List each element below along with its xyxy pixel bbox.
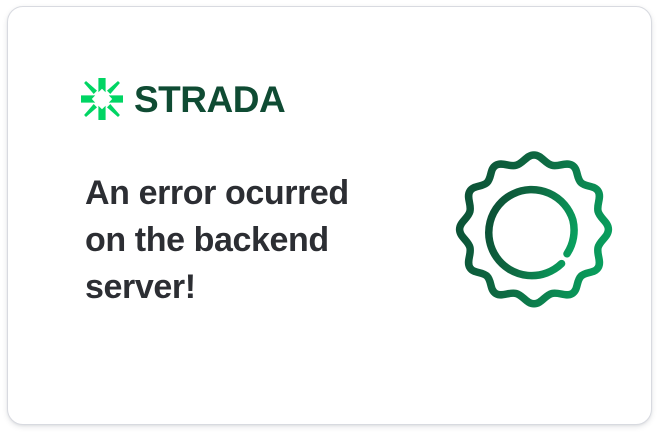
error-card: STRADA An error ocurred on the backend s… <box>7 6 652 425</box>
screen: STRADA An error ocurred on the backend s… <box>0 0 666 436</box>
strada-asterisk-icon <box>80 77 124 121</box>
brand-lockup: STRADA <box>80 73 285 125</box>
error-headline: An error ocurred on the backend server! <box>85 170 385 311</box>
gear-icon <box>448 145 620 317</box>
brand-wordmark: STRADA <box>134 81 285 118</box>
